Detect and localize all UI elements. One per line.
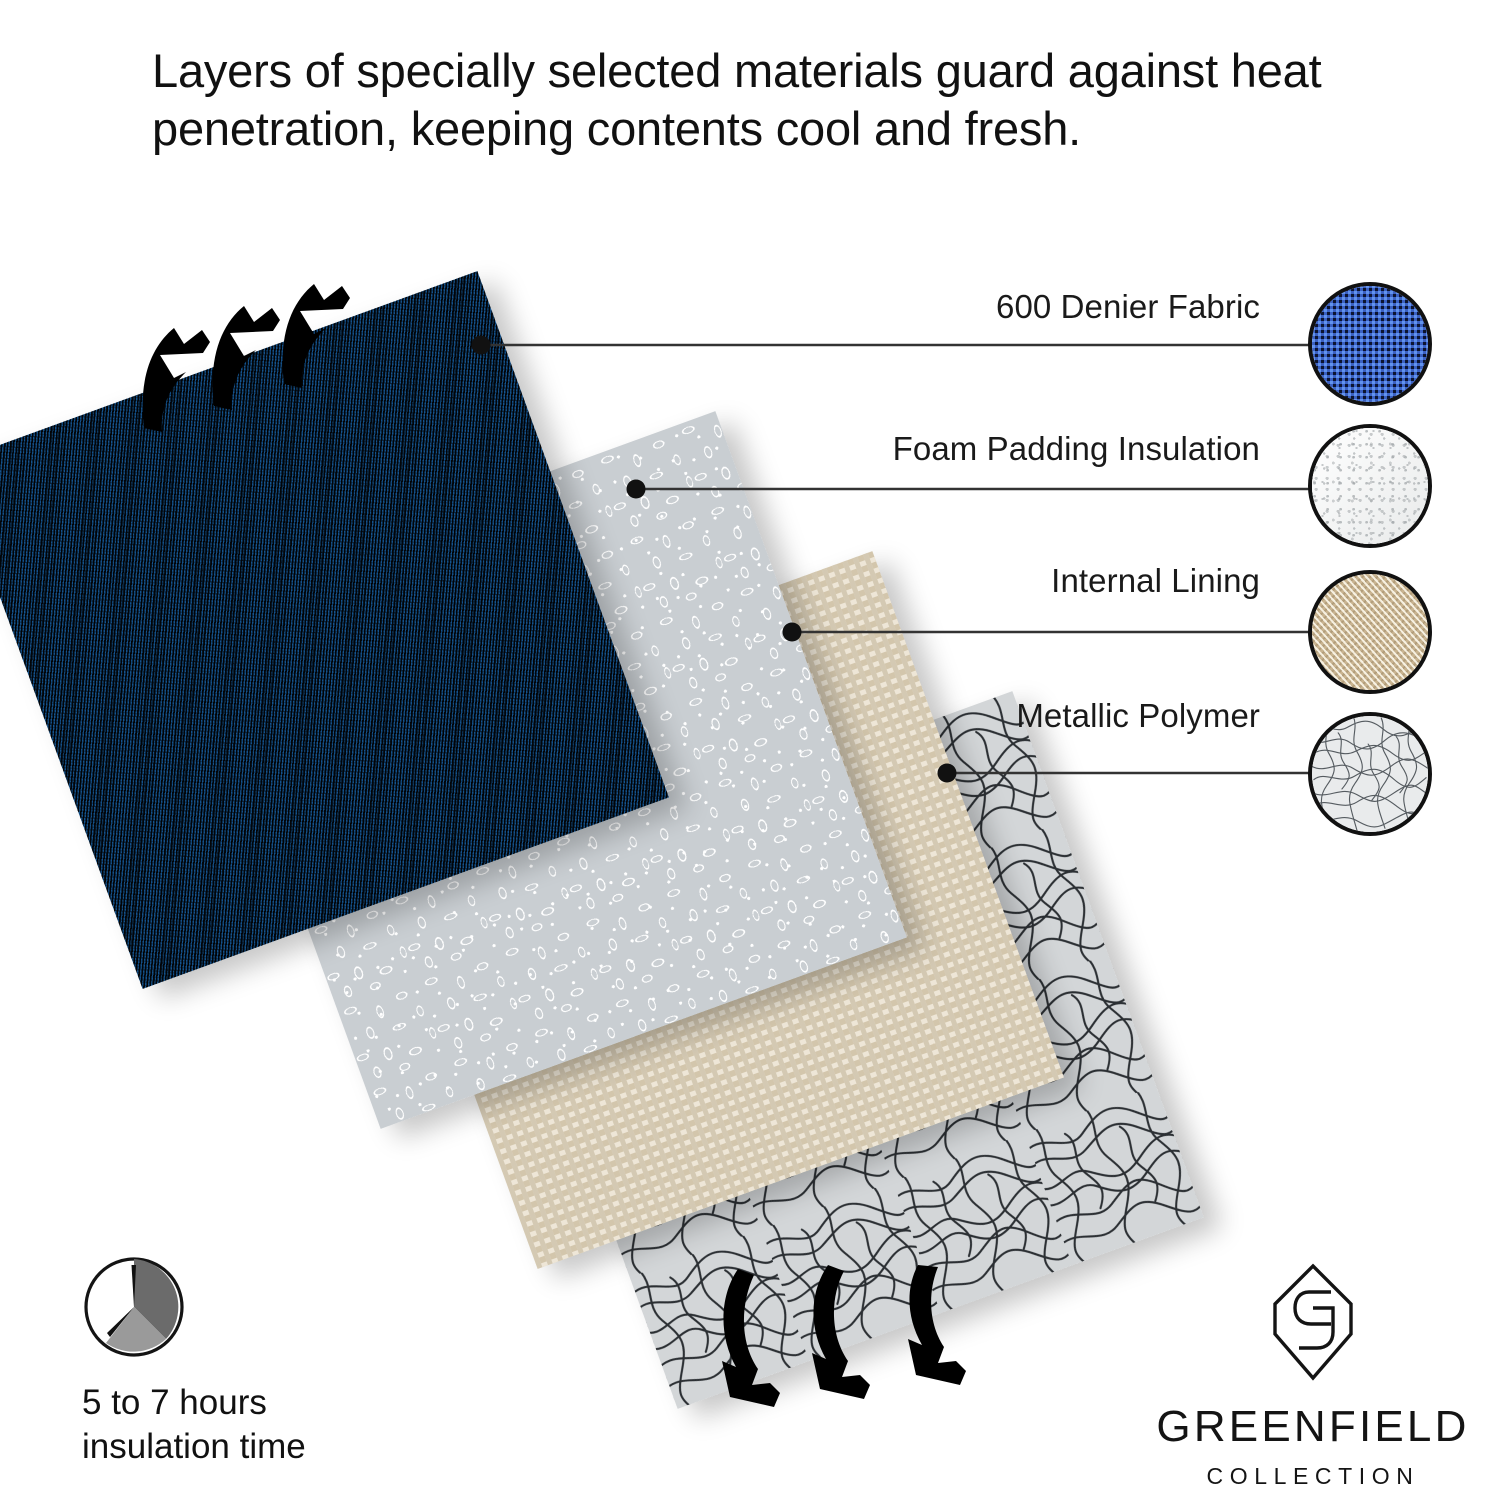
greenfield-leaf-logo: [1265, 1262, 1361, 1382]
foil-crinkle-texture: [1312, 716, 1428, 832]
blue-woven-fabric-swatch: [1308, 282, 1432, 406]
brand-lockup: GREENFIELD COLLECTION: [1148, 1262, 1478, 1490]
callout-label-foam: Foam Padding Insulation: [893, 430, 1260, 468]
insulation-time-text: 5 to 7 hours insulation time: [82, 1381, 412, 1469]
callout-label-metallic: Metallic Polymer: [1016, 697, 1260, 735]
insulation-time-badge: 5 to 7 hours insulation time: [82, 1255, 412, 1469]
white-foam-swatch: [1308, 424, 1432, 548]
callout-label-fabric: 600 Denier Fabric: [996, 288, 1260, 326]
clock-pie-icon: [82, 1255, 186, 1359]
brand-subtitle: COLLECTION: [1148, 1463, 1478, 1490]
silver-foil-swatch: [1308, 712, 1432, 836]
insulation-line-2: insulation time: [82, 1425, 412, 1469]
callout-label-lining: Internal Lining: [1051, 562, 1260, 600]
brand-name: GREENFIELD: [1148, 1402, 1478, 1452]
insulation-line-1: 5 to 7 hours: [82, 1381, 412, 1425]
tan-woven-lining-swatch: [1308, 570, 1432, 694]
